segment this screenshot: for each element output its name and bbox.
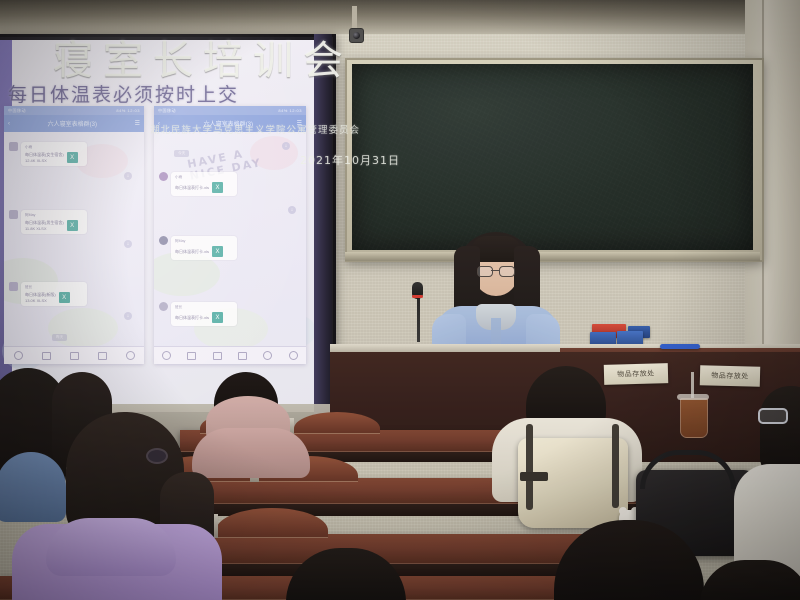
download-arrow-icon[interactable]: ↓ bbox=[288, 206, 296, 214]
chat-message: 小雨 每日体温表打卡.xls X bbox=[159, 172, 237, 196]
photo-icon[interactable] bbox=[187, 352, 196, 360]
drink-cup bbox=[680, 398, 708, 438]
file-name: 每日体温表(新版) bbox=[25, 292, 56, 298]
chevron-left-icon[interactable]: ‹ bbox=[8, 121, 10, 127]
glasses-icon bbox=[477, 266, 493, 277]
person-jacket bbox=[0, 452, 66, 522]
sender-name: 小雨 bbox=[175, 175, 233, 180]
message-bubble[interactable]: 班长 每日体温表打卡.xls X bbox=[171, 302, 237, 326]
cup-lid bbox=[677, 394, 709, 400]
glasses-bridge bbox=[491, 270, 499, 271]
chat-wallpaper-blob bbox=[48, 308, 118, 348]
file-name: 每日体温表(男生宿舍) bbox=[25, 220, 64, 226]
storage-sign-label: 物品存放处 bbox=[617, 369, 655, 380]
glasses-icon bbox=[499, 266, 515, 277]
camera-icon[interactable] bbox=[70, 352, 79, 360]
glasses-icon bbox=[758, 408, 788, 424]
chat-message: 班长 每日体温表(新版) 13.0K XLSX X bbox=[9, 282, 87, 306]
chat-message: 阿May 每日体温表(男生宿舍) 11.8K XLSX X bbox=[9, 210, 87, 234]
menu-icon[interactable]: ☰ bbox=[135, 120, 140, 127]
pen bbox=[660, 344, 700, 349]
chat-message: 班长 每日体温表打卡.xls X bbox=[159, 302, 237, 326]
storage-sign: 物品存放处 bbox=[700, 365, 761, 387]
chat-time-pill: 今天 bbox=[174, 150, 189, 157]
presenter bbox=[432, 232, 562, 362]
lecture-hall-photo: 每日体温表必须按时上交 中国移动 84% 12:03 ‹ 六⼈寝室表格群(3) … bbox=[0, 0, 800, 600]
voice-icon[interactable] bbox=[14, 351, 23, 360]
album-icon[interactable] bbox=[98, 352, 107, 360]
xlsx-file-icon: X bbox=[212, 246, 223, 257]
file-size: 12.4K XLSX bbox=[25, 158, 64, 164]
chat-body: HAVE ANICE DAY 今天 ↓ 小雨 每日体温表打卡.xls X ↓ bbox=[154, 132, 306, 364]
backpack-strap bbox=[526, 424, 533, 510]
chat-message: 小雨 每日体温表(女生宿舍) 12.4K XLSX X bbox=[9, 142, 87, 166]
blackboard-date: 2021年10月31日 bbox=[300, 152, 410, 168]
download-arrow-icon[interactable]: ↓ bbox=[282, 142, 290, 150]
camera-mount bbox=[352, 6, 357, 30]
sender-name: 小雨 bbox=[25, 145, 83, 150]
message-bubble[interactable]: 阿May 每日体温表打卡.xls X bbox=[171, 236, 237, 260]
chat-input-toolbar[interactable] bbox=[154, 346, 306, 364]
camera-icon[interactable] bbox=[213, 352, 222, 360]
message-bubble[interactable]: 班长 每日体温表(新版) 13.0K XLSX X bbox=[21, 282, 87, 306]
emoji-icon[interactable] bbox=[263, 351, 272, 360]
microphone-indicator bbox=[412, 295, 423, 298]
avatar bbox=[159, 172, 168, 181]
phone-screenshot-right: 中国移动 84% 12:03 ‹ 六⼈寝室表格群(3) ☰ HAVE ANICE… bbox=[154, 106, 306, 364]
phone-status-bar: 中国移动 84% 12:03 bbox=[154, 106, 306, 115]
message-bubble[interactable]: 小雨 每日体温表打卡.xls X bbox=[171, 172, 237, 196]
status-battery: 84% 12:03 bbox=[116, 108, 140, 113]
avatar bbox=[9, 142, 18, 151]
hoodie-body bbox=[192, 428, 310, 478]
xlsx-file-icon: X bbox=[212, 182, 223, 193]
backpack-buckle bbox=[520, 472, 548, 481]
sender-name: 阿May bbox=[175, 239, 233, 244]
xlsx-file-icon: X bbox=[212, 312, 223, 323]
phone-screenshot-left: 中国移动 84% 12:03 ‹ 六⼈寝室表格群(3) ☰ 小雨 bbox=[4, 106, 144, 364]
chat-message: 阿May 每日体温表打卡.xls X bbox=[159, 236, 237, 260]
download-arrow-icon[interactable]: ↓ bbox=[124, 312, 132, 320]
person-hair bbox=[760, 386, 800, 476]
chat-nav-bar: ‹ 六⼈寝室表格群(3) ☰ bbox=[4, 115, 144, 132]
xlsx-file-icon: X bbox=[67, 152, 78, 163]
blackboard bbox=[352, 64, 753, 250]
download-arrow-icon[interactable]: ↓ bbox=[124, 240, 132, 248]
sender-name: 班长 bbox=[25, 285, 83, 290]
hoodie-hood bbox=[46, 518, 176, 576]
voice-icon[interactable] bbox=[162, 351, 171, 360]
chalk-texture bbox=[352, 64, 753, 250]
avatar bbox=[159, 302, 168, 311]
avatar bbox=[9, 282, 18, 291]
status-battery: 84% 12:03 bbox=[278, 108, 302, 113]
chat-time-pill: 昨天 bbox=[52, 334, 67, 341]
download-arrow-icon[interactable]: ↓ bbox=[124, 172, 132, 180]
file-name: 每日体温表打卡.xls bbox=[175, 185, 209, 191]
xlsx-file-icon: X bbox=[67, 220, 78, 231]
backpack-strap bbox=[612, 424, 619, 508]
file-size: 13.0K XLSX bbox=[25, 298, 56, 304]
file-name: 每日体温表打卡.xls bbox=[175, 249, 209, 255]
status-carrier: 中国移动 bbox=[158, 108, 176, 114]
message-bubble[interactable]: 小雨 每日体温表(女生宿舍) 12.4K XLSX X bbox=[21, 142, 87, 166]
photo-icon[interactable] bbox=[42, 352, 51, 360]
plus-icon[interactable] bbox=[289, 351, 298, 360]
avatar bbox=[159, 236, 168, 245]
blackboard-title: 寝室长培训会 bbox=[28, 28, 378, 86]
avatar bbox=[9, 210, 18, 219]
blackboard-subtitle: 湖北民族大学马克思主义学院公寓管理委员会 bbox=[150, 122, 390, 136]
sender-name: 阿May bbox=[25, 213, 83, 218]
message-bubble[interactable]: 阿May 每日体温表(男生宿舍) 11.8K XLSX X bbox=[21, 210, 87, 234]
file-name: 每日体温表(女生宿舍) bbox=[25, 152, 64, 158]
phone-status-bar: 中国移动 84% 12:03 bbox=[4, 106, 144, 115]
slide-content: 每日体温表必须按时上交 中国移动 84% 12:03 ‹ 六⼈寝室表格群(3) … bbox=[0, 40, 320, 412]
file-size: 11.8K XLSX bbox=[25, 226, 64, 232]
storage-sign: 物品存放处 bbox=[604, 363, 669, 385]
storage-sign-label: 物品存放处 bbox=[711, 371, 749, 382]
sender-name: 班长 bbox=[175, 305, 233, 310]
xlsx-file-icon: X bbox=[59, 292, 70, 303]
chat-title: 六⼈寝室表格群(3) bbox=[48, 119, 97, 128]
plus-icon[interactable] bbox=[126, 351, 135, 360]
chat-body: 小雨 每日体温表(女生宿舍) 12.4K XLSX X ↓ bbox=[4, 132, 144, 364]
file-name: 每日体温表打卡.xls bbox=[175, 315, 209, 321]
chat-input-toolbar[interactable] bbox=[4, 346, 144, 364]
album-icon[interactable] bbox=[238, 352, 247, 360]
hair-tie bbox=[148, 450, 166, 462]
status-carrier: 中国移动 bbox=[8, 108, 26, 114]
